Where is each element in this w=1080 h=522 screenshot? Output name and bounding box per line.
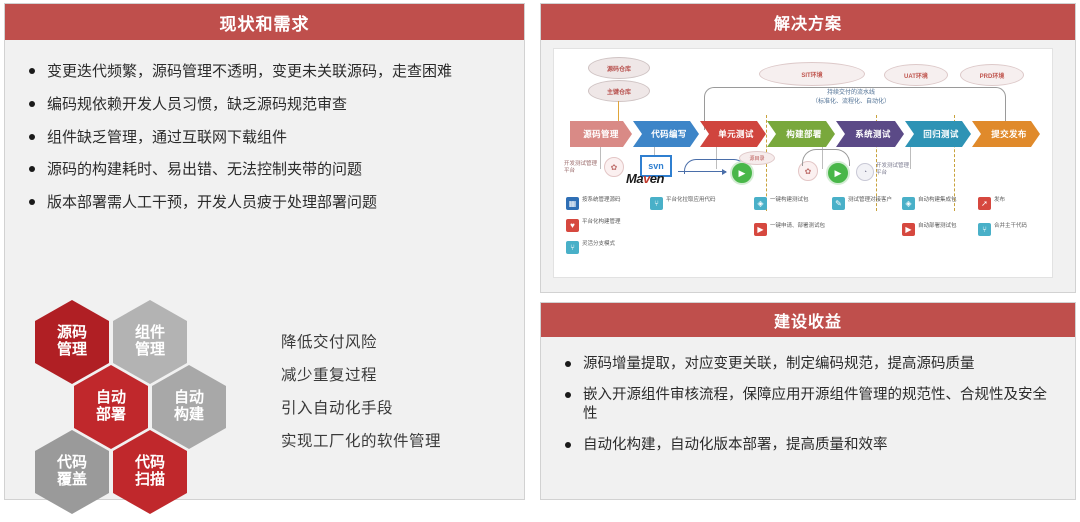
environment-prd: PRD环境 [960,64,1024,86]
maven-part-a: Ma [626,171,643,186]
hexagon-label-line1: 自动 [96,390,126,407]
test-curve [802,149,850,166]
feature-item: ♥ 平台化构建管理 [566,219,644,232]
feature-item: ◈ 自动构建集成包 [902,197,980,210]
hexagon-component-management: 组件 管理 [113,300,187,384]
stage-release[interactable]: 提交发布 [972,121,1040,147]
hexagon-label-line2: 扫描 [135,472,165,489]
stage-unit-test[interactable]: 单元测试 [700,121,766,147]
benefit-bullet-list: 源码增量提取，对应变更关联，制定编码规范，提高源码质量 嵌入开源组件审核流程，保… [541,337,1075,456]
panel-benefit-title: 建设收益 [541,303,1075,337]
slide-root: 现状和需求 变更迭代频繁，源码管理不透明，变更未关联源码，走查困难 编码规依赖开… [0,0,1080,503]
list-item: 变更迭代频繁，源码管理不透明，变更未关联源码，走查困难 [27,62,510,82]
feature-label: 一键构建测试包 [770,197,809,204]
feature-item: ⑂ 灵活分支模式 [566,241,644,254]
hexagon-source-code-management: 源码 管理 [35,300,109,384]
hexagon-label-line2: 构建 [174,407,204,424]
feature-item: ⑂ 合并主干代码 [978,223,1053,236]
goal-item: 减少重复过程 [281,363,521,385]
feature-label: 平台化构建管理 [582,219,621,226]
gear-icon: ✿ [604,157,624,177]
goal-item: 降低交付风险 [281,330,521,352]
hexagon-code-coverage: 代码 覆盖 [35,430,109,514]
hexagon-label-line2: 管理 [135,342,165,359]
stage-source-management[interactable]: 源码管理 [570,121,632,147]
pipeline-note: 持续交付的流水线 （标准化、流程化、自动化） [776,89,926,106]
maven-part-b: en [650,171,664,186]
hexagon-label-line1: 源码 [57,325,87,342]
status-bullet-list: 变更迭代频繁，源码管理不透明，变更未关联源码，走查困难 编码规依赖开发人员习惯，… [5,40,524,213]
feature-label: 一键申请、部署测试包 [770,223,825,230]
stage-connector [600,147,601,169]
feature-label: 自动构建集成包 [918,197,957,204]
hexagon-cluster: 源码 管理 组件 管理 自动 部署 自动 构建 代码 覆盖 [29,292,257,522]
maven-part-v: v [643,171,650,186]
goal-text-list: 降低交付风险 减少重复过程 引入自动化手段 实现工厂化的软件管理 [281,330,521,462]
feature-item: ▦ 按系统管理源码 [566,197,644,210]
rocket-icon: ➚ [978,197,991,210]
panel-solution: 解决方案 源码仓库 主键仓库 SIT环境 UAT环境 PRD环境 持续交付的流水… [540,3,1076,293]
hexagon-auto-deploy: 自动 部署 [74,365,148,449]
hexagon-label-line2: 覆盖 [57,472,87,489]
stage-build-deploy[interactable]: 构建部署 [767,121,835,147]
grid-icon: ▦ [566,197,579,210]
pipeline-stage-row: 源码管理 代码编写 单元测试 构建部署 系统测试 回归测试 提交发布 [570,121,1041,147]
platform-label-left: 开发测试管理平台 [564,161,598,176]
panel-solution-title: 解决方案 [541,4,1075,40]
gauge-icon: ◔ [856,163,874,181]
feature-item: ⑂ 平台化拉取应用代码 [650,197,728,210]
feature-label: 合并主干代码 [994,223,1027,230]
list-item: 嵌入开源组件审核流程，保障应用开源组件管理的规范性、合规性及安全性 [563,386,1055,424]
feature-item: ◈ 一键构建测试包 [754,197,832,210]
feature-item: ✎ 测试管理对接客户 [832,197,910,210]
list-item: 源码的构建耗时、易出错、无法控制夹带的问题 [27,160,510,180]
package-icon: ◈ [902,197,915,210]
repo-tag: 源目录 [739,151,775,165]
stage-code-writing[interactable]: 代码编写 [633,121,699,147]
feature-label: 灵活分支模式 [582,241,615,248]
goal-item: 引入自动化手段 [281,396,521,418]
feature-item: ➚ 发布 [978,197,1053,210]
hexagon-label-line1: 组件 [135,325,165,342]
edit-icon: ✎ [832,197,845,210]
hexagon-auto-build: 自动 构建 [152,365,226,449]
feature-label: 平台化拉取应用代码 [666,197,716,204]
list-item: 版本部署需人工干预，开发人员疲于处理部署问题 [27,193,510,213]
stage-connector [910,147,911,169]
hexagon-label-line1: 代码 [135,455,165,472]
feature-label: 自动部署测试包 [918,223,957,230]
environment-uat: UAT环境 [884,64,948,86]
feature-label: 测试管理对接客户 [848,197,892,204]
package-icon: ◈ [754,197,767,210]
stage-regression-test[interactable]: 回归测试 [905,121,971,147]
feature-item: ▶ 一键申请、部署测试包 [754,223,832,236]
hexagon-label-line2: 部署 [96,407,126,424]
list-item: 组件缺乏管理，通过互联网下载组件 [27,128,510,148]
pipeline-diagram: 源码仓库 主键仓库 SIT环境 UAT环境 PRD环境 持续交付的流水线 （标准… [553,48,1053,278]
panel-solution-body: 源码仓库 主键仓库 SIT环境 UAT环境 PRD环境 持续交付的流水线 （标准… [541,40,1075,292]
play-icon: ▶ [902,223,915,236]
hexagon-label-line2: 管理 [57,342,87,359]
pipeline-note-line2: （标准化、流程化、自动化） [776,98,926,107]
panel-status-body: 变更迭代频繁，源码管理不透明，变更未关联源码，走查困难 编码规依赖开发人员习惯，… [5,40,524,499]
pipeline-note-line1: 持续交付的流水线 [776,89,926,98]
feature-item: ▶ 自动部署测试包 [902,223,980,236]
hexagon-label-line1: 自动 [174,390,204,407]
heart-icon: ♥ [566,219,579,232]
hexagon-code-scan: 代码 扫描 [113,430,187,514]
hexagon-label-line1: 代码 [57,455,87,472]
goal-item: 实现工厂化的软件管理 [281,429,521,451]
feature-label: 发布 [994,197,1005,204]
branch-icon: ⑂ [978,223,991,236]
play-icon: ▶ [754,223,767,236]
maven-logo: Maven [626,171,664,186]
branch-icon: ⑂ [566,241,579,254]
panel-benefit-body: 源码增量提取，对应变更关联，制定编码规范，提高源码质量 嵌入开源组件审核流程，保… [541,337,1075,499]
source-repo-ellipse: 源码仓库 [588,57,650,79]
environment-sit: SIT环境 [759,62,865,86]
list-item: 编码规依赖开发人员习惯，缺乏源码规范审查 [27,95,510,115]
list-item: 自动化构建，自动化版本部署，提高质量和效率 [563,436,1055,455]
branch-icon: ⑂ [650,197,663,210]
feature-label: 按系统管理源码 [582,197,621,204]
panel-status-title: 现状和需求 [5,4,524,40]
panel-status-and-requirements: 现状和需求 变更迭代频繁，源码管理不透明，变更未关联源码，走查困难 编码规依赖开… [4,3,525,500]
panel-construction-benefits: 建设收益 源码增量提取，对应变更关联，制定编码规范，提高源码质量 嵌入开源组件审… [540,302,1076,500]
list-item: 源码增量提取，对应变更关联，制定编码规范，提高源码质量 [563,355,1055,374]
key-repo-ellipse: 主键仓库 [588,80,650,102]
platform-label-right: 开发测试管理平台 [876,163,910,178]
stage-system-test[interactable]: 系统测试 [836,121,904,147]
